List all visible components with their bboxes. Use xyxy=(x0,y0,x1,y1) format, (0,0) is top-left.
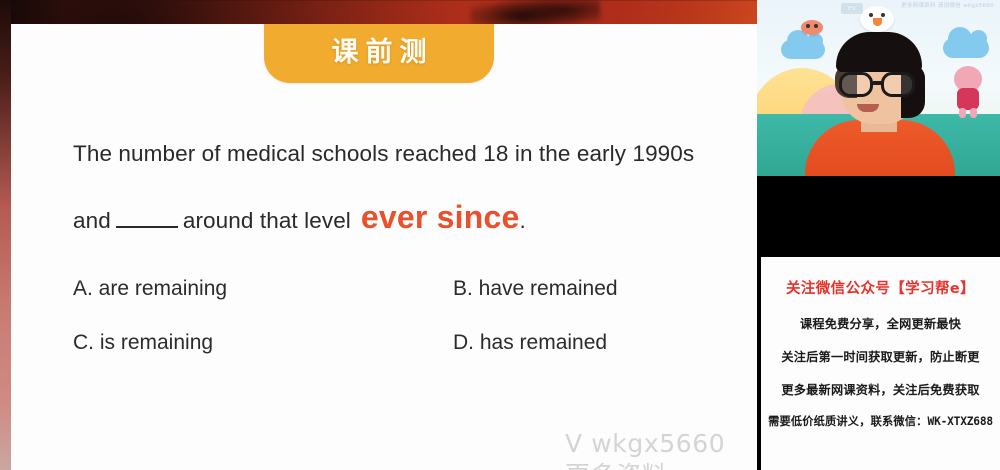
answer-options: A. are remaining B. have remained C. is … xyxy=(73,276,693,356)
slide-watermark-line-1: V wkgx5660 xyxy=(565,428,725,460)
promo-title: 关注微信公众号【学习帮e】 xyxy=(767,279,994,299)
crab-eye-left xyxy=(806,24,810,28)
duck-sticker-icon xyxy=(860,6,894,32)
duck-eye-right xyxy=(881,13,885,17)
mascot-leg-right xyxy=(970,108,977,118)
option-a[interactable]: A. are remaining xyxy=(73,276,453,302)
video-overlay-watermark: 更多网课资料 请加微信 wkgx5660 xyxy=(901,3,994,10)
answer-blank xyxy=(116,226,178,228)
wechat-promo-panel: 关注微信公众号【学习帮e】 课程免费分享，全网更新最快 关注后第一时间获取更新，… xyxy=(761,257,1000,470)
teacher-webcam-video[interactable]: ev 更多网课资料 请加微信 wkgx5660 xyxy=(757,0,1000,176)
question-line-2-mid: around that level xyxy=(183,206,351,236)
option-c[interactable]: C. is remaining xyxy=(73,330,453,356)
question-line-2: and around that level ever since . xyxy=(73,202,733,236)
video-logo-badge: ev xyxy=(841,3,863,14)
duck-beak xyxy=(873,18,882,26)
question-line-1: The number of medical schools reached 18… xyxy=(73,139,733,169)
teacher-figure xyxy=(805,38,955,176)
promo-line-3: 更多最新网课资料，关注后免费获取 xyxy=(767,382,994,398)
slide-canvas: 课前测 The number of medical schools reache… xyxy=(11,24,757,470)
backdrop-left-edge-strip xyxy=(0,0,11,470)
promo-line-2: 关注后第一时间获取更新，防止断更 xyxy=(767,349,994,365)
right-sidebar: ev 更多网课资料 请加微信 wkgx5660 关注微信公众号【学习帮e】 课程… xyxy=(757,0,1000,470)
slide-title-badge: 课前测 xyxy=(264,24,494,83)
question-highlight-phrase: ever since xyxy=(361,202,520,232)
question-line-2-prefix: and xyxy=(73,206,111,236)
option-d[interactable]: D. has remained xyxy=(453,330,693,356)
mascot-body xyxy=(957,88,979,110)
option-b[interactable]: B. have remained xyxy=(453,276,693,302)
cartoon-mascot xyxy=(950,66,986,118)
crab-eye-right xyxy=(814,24,818,28)
promo-line-1: 课程免费分享，全网更新最快 xyxy=(767,316,994,332)
lecture-screen: 课前测 The number of medical schools reache… xyxy=(0,0,1000,470)
glasses-icon xyxy=(837,72,923,98)
glasses-lens-left xyxy=(839,72,873,97)
sidebar-black-divider xyxy=(757,176,1000,257)
promo-line-4: 需要低价纸质讲义，联系微信：WK-XTXZ688 xyxy=(767,414,994,430)
teacher-hair-top xyxy=(836,32,922,72)
promo-contact-label: 需要低价纸质讲义，联系微信： xyxy=(768,415,927,428)
glasses-lens-right xyxy=(881,72,915,97)
question-period: . xyxy=(519,206,525,236)
mascot-leg-left xyxy=(959,108,966,118)
question-body: The number of medical schools reached 18… xyxy=(73,139,733,236)
promo-contact-id: WK-XTXZ688 xyxy=(928,415,993,428)
slide-watermark-line-2: 更多资料 xyxy=(565,460,725,470)
crab-sticker-icon xyxy=(801,20,823,35)
slide-title-text: 课前测 xyxy=(325,30,434,69)
slide-watermark: V wkgx5660 更多资料 xyxy=(565,428,725,470)
duck-eye-left xyxy=(869,13,873,17)
